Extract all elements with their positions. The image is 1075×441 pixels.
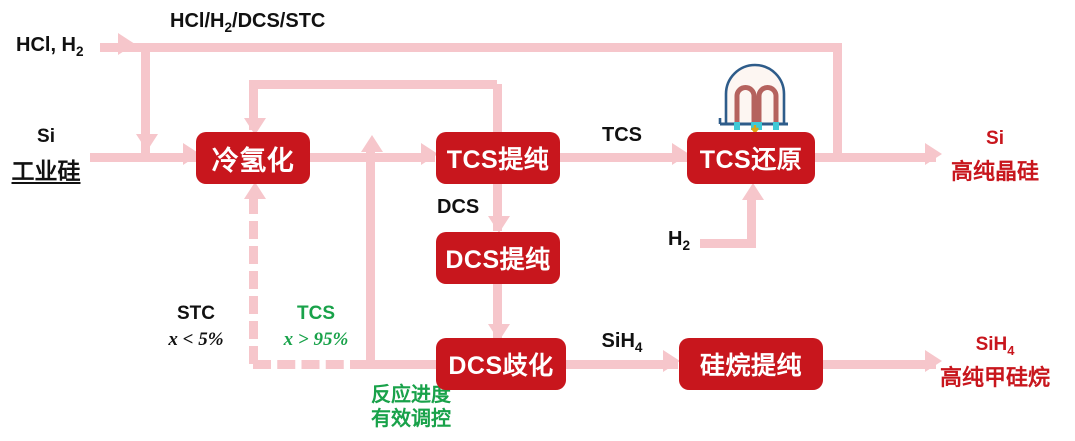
sih4-sub: 4 xyxy=(635,340,643,355)
flow-line-tcs-recycle-across xyxy=(249,80,497,89)
process-box-label: DCS提纯 xyxy=(445,240,550,276)
process-box-cold-hydrogenation[interactable]: 冷氢化 xyxy=(196,132,310,184)
flow-line-hcl-h2-top xyxy=(100,43,840,52)
stream-label-sih4: SiH4 xyxy=(602,330,643,355)
process-box-label: 冷氢化 xyxy=(212,139,295,178)
flow-line-tcs-to-reduction xyxy=(556,153,688,162)
arrowhead-silicon-output xyxy=(925,143,942,165)
arrowhead-hcl-down xyxy=(136,134,158,151)
output-label-silicon-formula: Si xyxy=(986,128,1004,150)
h2-sub: 2 xyxy=(682,238,690,253)
stream-label-tcs: TCS xyxy=(602,124,642,147)
hcl-h2-sub: 2 xyxy=(76,44,84,59)
annotation-tcs-name: TCS xyxy=(297,303,335,325)
flow-line-reduction-to-silicon xyxy=(814,153,936,162)
process-box-tcs-reduction[interactable]: TCS还原 xyxy=(687,132,815,184)
flow-line-recycle-riser xyxy=(833,43,842,157)
flow-line-tcs-return-riser xyxy=(366,150,375,364)
dashed-line-stc-return-base xyxy=(253,360,368,369)
dashed-line-stc-riser xyxy=(249,196,258,364)
input-label-h2-feed: H2 xyxy=(668,228,690,253)
stream-label-dcs: DCS xyxy=(437,196,479,219)
stream-label-recycle: HCl/H2/DCS/STC xyxy=(170,10,325,35)
flow-line-h2-riser xyxy=(747,198,756,243)
flow-line-tcs-recycle-up xyxy=(493,84,502,136)
arrowhead-into-silane-purification xyxy=(663,350,680,372)
arrowhead-tcs-return xyxy=(361,135,383,152)
input-label-hcl-h2: HCl, H2 xyxy=(16,34,84,59)
arrowhead-h2-into-reduction xyxy=(742,183,764,200)
process-box-dcs-purification[interactable]: DCS提纯 xyxy=(436,232,560,284)
recycle-text-2: /DCS/STC xyxy=(232,10,325,32)
annotation-stc-value: x < 5% xyxy=(168,329,223,351)
process-box-silane-purification[interactable]: 硅烷提纯 xyxy=(679,338,823,390)
process-flow-diagram: 冷氢化 TCS提纯 TCS还原 DCS提纯 DCS歧化 硅烷提纯 HCl/H2/… xyxy=(0,0,1075,441)
flow-line-disproportionation-return xyxy=(366,360,440,369)
annotation-stc-name: STC xyxy=(177,303,215,325)
silane-formula-sub: 4 xyxy=(1007,343,1014,358)
sih4-text: SiH xyxy=(602,330,635,352)
process-box-label: DCS歧化 xyxy=(448,346,553,382)
arrowhead-hcl-h2-inlet xyxy=(118,33,135,55)
recycle-sub: 2 xyxy=(224,20,232,35)
flow-line-silane-output xyxy=(822,360,936,369)
output-label-silane-formula: SiH4 xyxy=(976,334,1015,358)
process-box-dcs-disproportionation[interactable]: DCS歧化 xyxy=(436,338,566,390)
process-box-tcs-purification[interactable]: TCS提纯 xyxy=(436,132,560,184)
arrowhead-into-dcs-purification xyxy=(488,216,510,233)
process-box-label: 硅烷提纯 xyxy=(700,346,802,382)
arrowhead-stc-return-into-hydrogenation xyxy=(244,182,266,199)
output-label-high-purity-silane: 高纯甲硅烷 xyxy=(940,360,1050,392)
silane-formula-text: SiH xyxy=(976,334,1008,355)
h2-text: H xyxy=(668,228,682,250)
input-label-industrial-silicon: 工业硅 xyxy=(12,152,81,186)
process-box-label: TCS还原 xyxy=(700,140,803,176)
hcl-h2-text: HCl, H xyxy=(16,34,76,56)
annotation-reaction-control-line2: 有效调控 xyxy=(371,402,451,431)
recycle-text-1: HCl/H xyxy=(170,10,224,32)
annotation-tcs-value: x > 95% xyxy=(284,329,349,351)
output-label-high-purity-silicon: 高纯晶硅 xyxy=(951,154,1039,186)
input-label-si-formula: Si xyxy=(37,126,55,148)
process-box-label: TCS提纯 xyxy=(447,140,550,176)
siemens-reactor-icon xyxy=(712,58,798,132)
flow-line-disproportionation-to-silane xyxy=(566,360,678,369)
